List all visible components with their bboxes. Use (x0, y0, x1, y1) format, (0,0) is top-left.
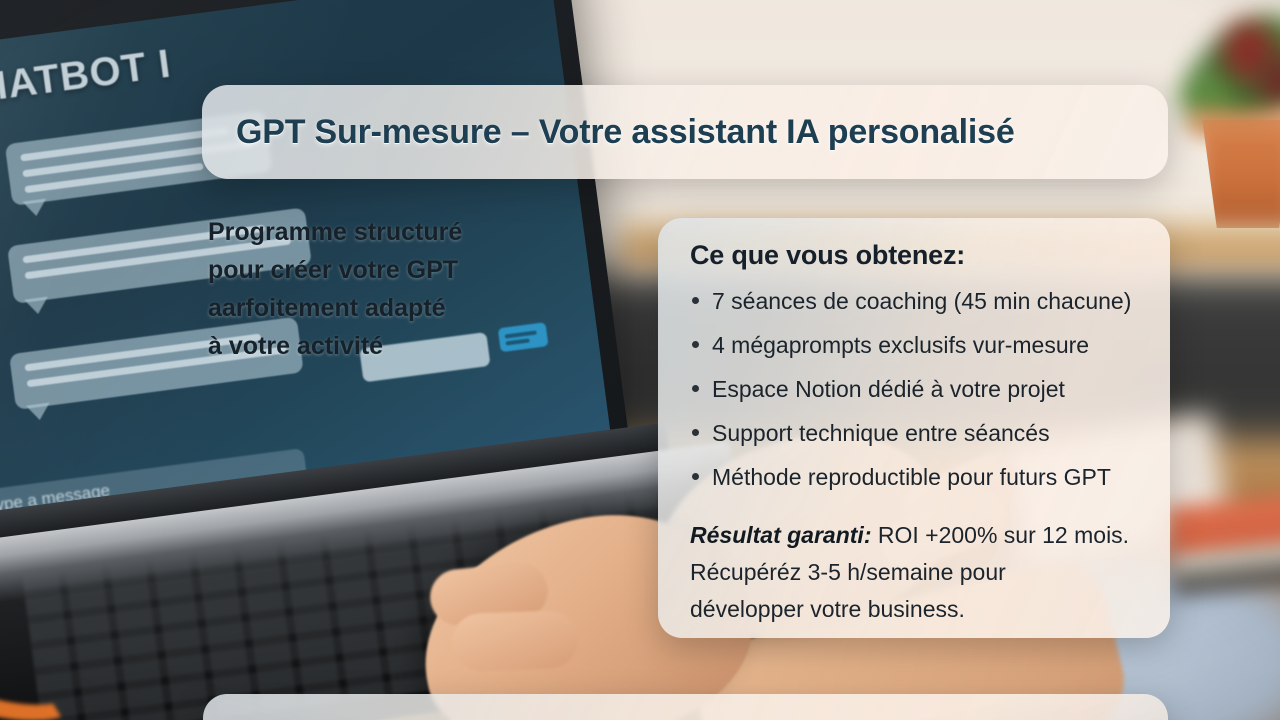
program-description-line: Programme structuré (208, 213, 518, 251)
list-item-label: 4 mégaprompts exclusifs vur-mesure (712, 332, 1089, 358)
result-line: Résultat garanti: ROI +200% sur 12 mois. (690, 517, 1154, 554)
bullet-icon (692, 473, 699, 480)
list-item-label: Méthode reproductible pour futurs GPT (712, 464, 1111, 490)
bottom-panel (203, 694, 1168, 720)
list-item-label: 7 séances de coaching (45 min chacune) (712, 288, 1131, 314)
list-item: Espace Notion dédié à votre projet (690, 367, 1154, 411)
bullet-icon (692, 341, 699, 348)
page-title: GPT Sur-mesure – Votre assistant IA pers… (236, 85, 1158, 179)
list-item: Support technique entre séancés (690, 411, 1154, 455)
list-item-label: Espace Notion dédié à votre projet (712, 376, 1065, 402)
benefits-list: 7 séances de coaching (45 min chacune) 4… (690, 279, 1154, 499)
result-guarantee: Résultat garanti: ROI +200% sur 12 mois.… (690, 517, 1154, 628)
list-item: 4 mégaprompts exclusifs vur-mesure (690, 323, 1154, 367)
program-description-line: aarfoitement adapté (208, 289, 518, 327)
list-item: Méthode reproductible pour futurs GPT (690, 455, 1154, 499)
result-lead-label: Résultat garanti: (690, 522, 871, 548)
finger (451, 610, 579, 672)
list-item: 7 séances de coaching (45 min chacune) (690, 279, 1154, 323)
result-line: Récupéréz 3-5 h/semaine pour (690, 554, 1154, 591)
bullet-icon (692, 429, 699, 436)
list-item-label: Support technique entre séancés (712, 420, 1050, 446)
benefits-heading: Ce que vous obtenez: (690, 240, 1154, 271)
result-roi-text: ROI +200% sur 12 mois. (871, 522, 1129, 548)
result-line: développer votre business. (690, 591, 1154, 628)
bullet-icon (692, 297, 699, 304)
title-panel: GPT Sur-mesure – Votre assistant IA pers… (202, 85, 1168, 179)
bullet-icon (692, 385, 699, 392)
program-description-line: à votre activité (208, 327, 518, 365)
benefits-panel: Ce que vous obtenez: 7 séances de coachi… (658, 218, 1170, 638)
program-description-line: pour créer votre GPT (208, 251, 518, 289)
slide-canvas: CHATBOT I (0, 0, 1280, 720)
program-description: Programme structuré pour créer votre GPT… (208, 213, 518, 365)
